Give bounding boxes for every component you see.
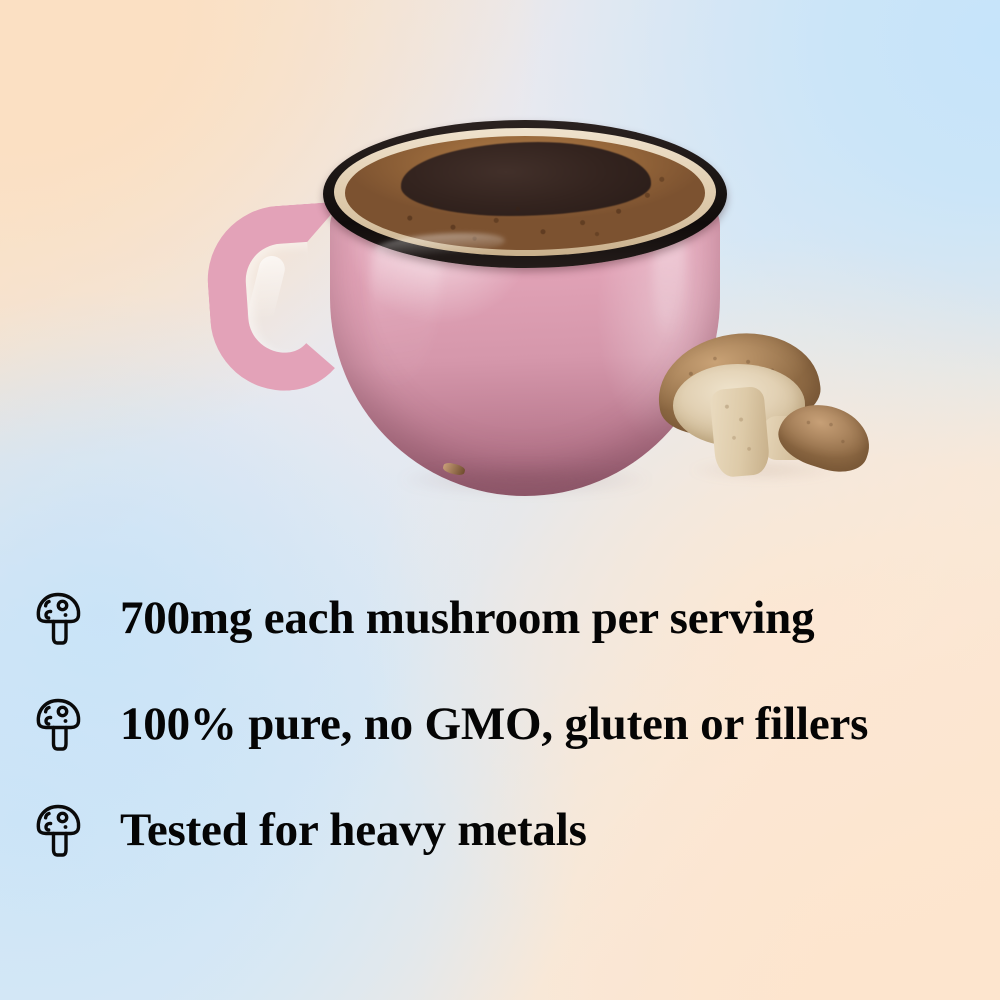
- feature-row: Tested for heavy metals: [0, 778, 1000, 884]
- mug-base-shadow: [375, 466, 675, 500]
- mushroom-icon: [32, 588, 88, 650]
- coffee-foam-bubbles: [345, 136, 705, 250]
- mushroom-large-stem: [709, 386, 770, 478]
- fresh-mushrooms-image: [655, 330, 875, 500]
- feature-row: 100% pure, no GMO, gluten or fillers: [0, 672, 1000, 778]
- product-feature-graphic: 700mg each mushroom per serving 100% pur…: [0, 0, 1000, 1000]
- feature-label: 700mg each mushroom per serving: [120, 594, 814, 643]
- mushroom-icon: [32, 800, 88, 862]
- feature-list: 700mg each mushroom per serving 100% pur…: [0, 566, 1000, 884]
- feature-row: 700mg each mushroom per serving: [0, 566, 1000, 672]
- mushroom-icon: [32, 694, 88, 756]
- feature-label: 100% pure, no GMO, gluten or fillers: [120, 700, 868, 749]
- feature-label: Tested for heavy metals: [120, 806, 587, 855]
